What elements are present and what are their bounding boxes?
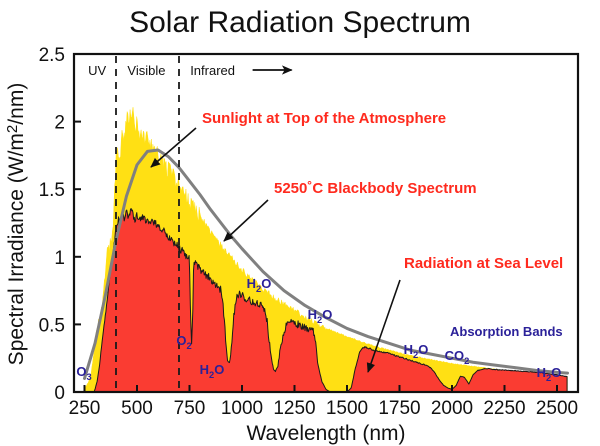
y-axis-title-tail: /nm) [5, 83, 28, 125]
y-tick-label: 2 [54, 113, 65, 134]
annotation-sunlight-top-atmosphere: Sunlight at Top of the Atmosphere [202, 110, 446, 127]
x-axis-title: Wavelength (nm) [246, 422, 405, 445]
x-tick-label: 2500 [536, 398, 578, 419]
annotation-blackbody-spectrum: 5250˚C Blackbody Spectrum [274, 180, 477, 197]
chart-canvas: Solar Radiation Spectrum Spectral Irradi… [0, 0, 600, 446]
x-tick-label: 750 [174, 398, 206, 419]
y-tick-label: 0.5 [39, 315, 65, 336]
y-axis-title-superscript: 2 [4, 125, 21, 133]
chart-title: Solar Radiation Spectrum [129, 6, 471, 39]
region-label-uv: UV [88, 63, 106, 78]
x-tick-label: 2250 [483, 398, 525, 419]
x-tick-label: 1250 [273, 398, 315, 419]
region-label-visible: Visible [127, 63, 165, 78]
x-tick-label: 1750 [378, 398, 420, 419]
x-tick-label: 250 [69, 398, 101, 419]
y-tick-label: 1.5 [39, 180, 65, 201]
annotation-radiation-sea-level: Radiation at Sea Level [404, 255, 563, 272]
y-tick-label: 0 [54, 383, 65, 404]
x-tick-label: 1500 [326, 398, 368, 419]
y-tick-label: 1 [54, 248, 65, 269]
x-tick-label: 1000 [221, 398, 263, 419]
y-tick-label: 2.5 [39, 45, 65, 66]
x-tick-label: 2000 [431, 398, 473, 419]
svg-text:Spectral Irradiance (W/m2/nm): Spectral Irradiance (W/m2/nm) [4, 83, 28, 366]
x-tick-label: 500 [121, 398, 153, 419]
y-axis-title-main: Spectral Irradiance (W/m [5, 133, 28, 365]
region-label-infrared: Infrared [190, 63, 235, 78]
solar-radiation-spectrum-figure: Solar Radiation Spectrum Spectral Irradi… [0, 0, 600, 446]
y-axis-title: Spectral Irradiance (W/m2/nm) [4, 83, 28, 366]
annotation-absorption-bands: Absorption Bands [450, 324, 563, 339]
